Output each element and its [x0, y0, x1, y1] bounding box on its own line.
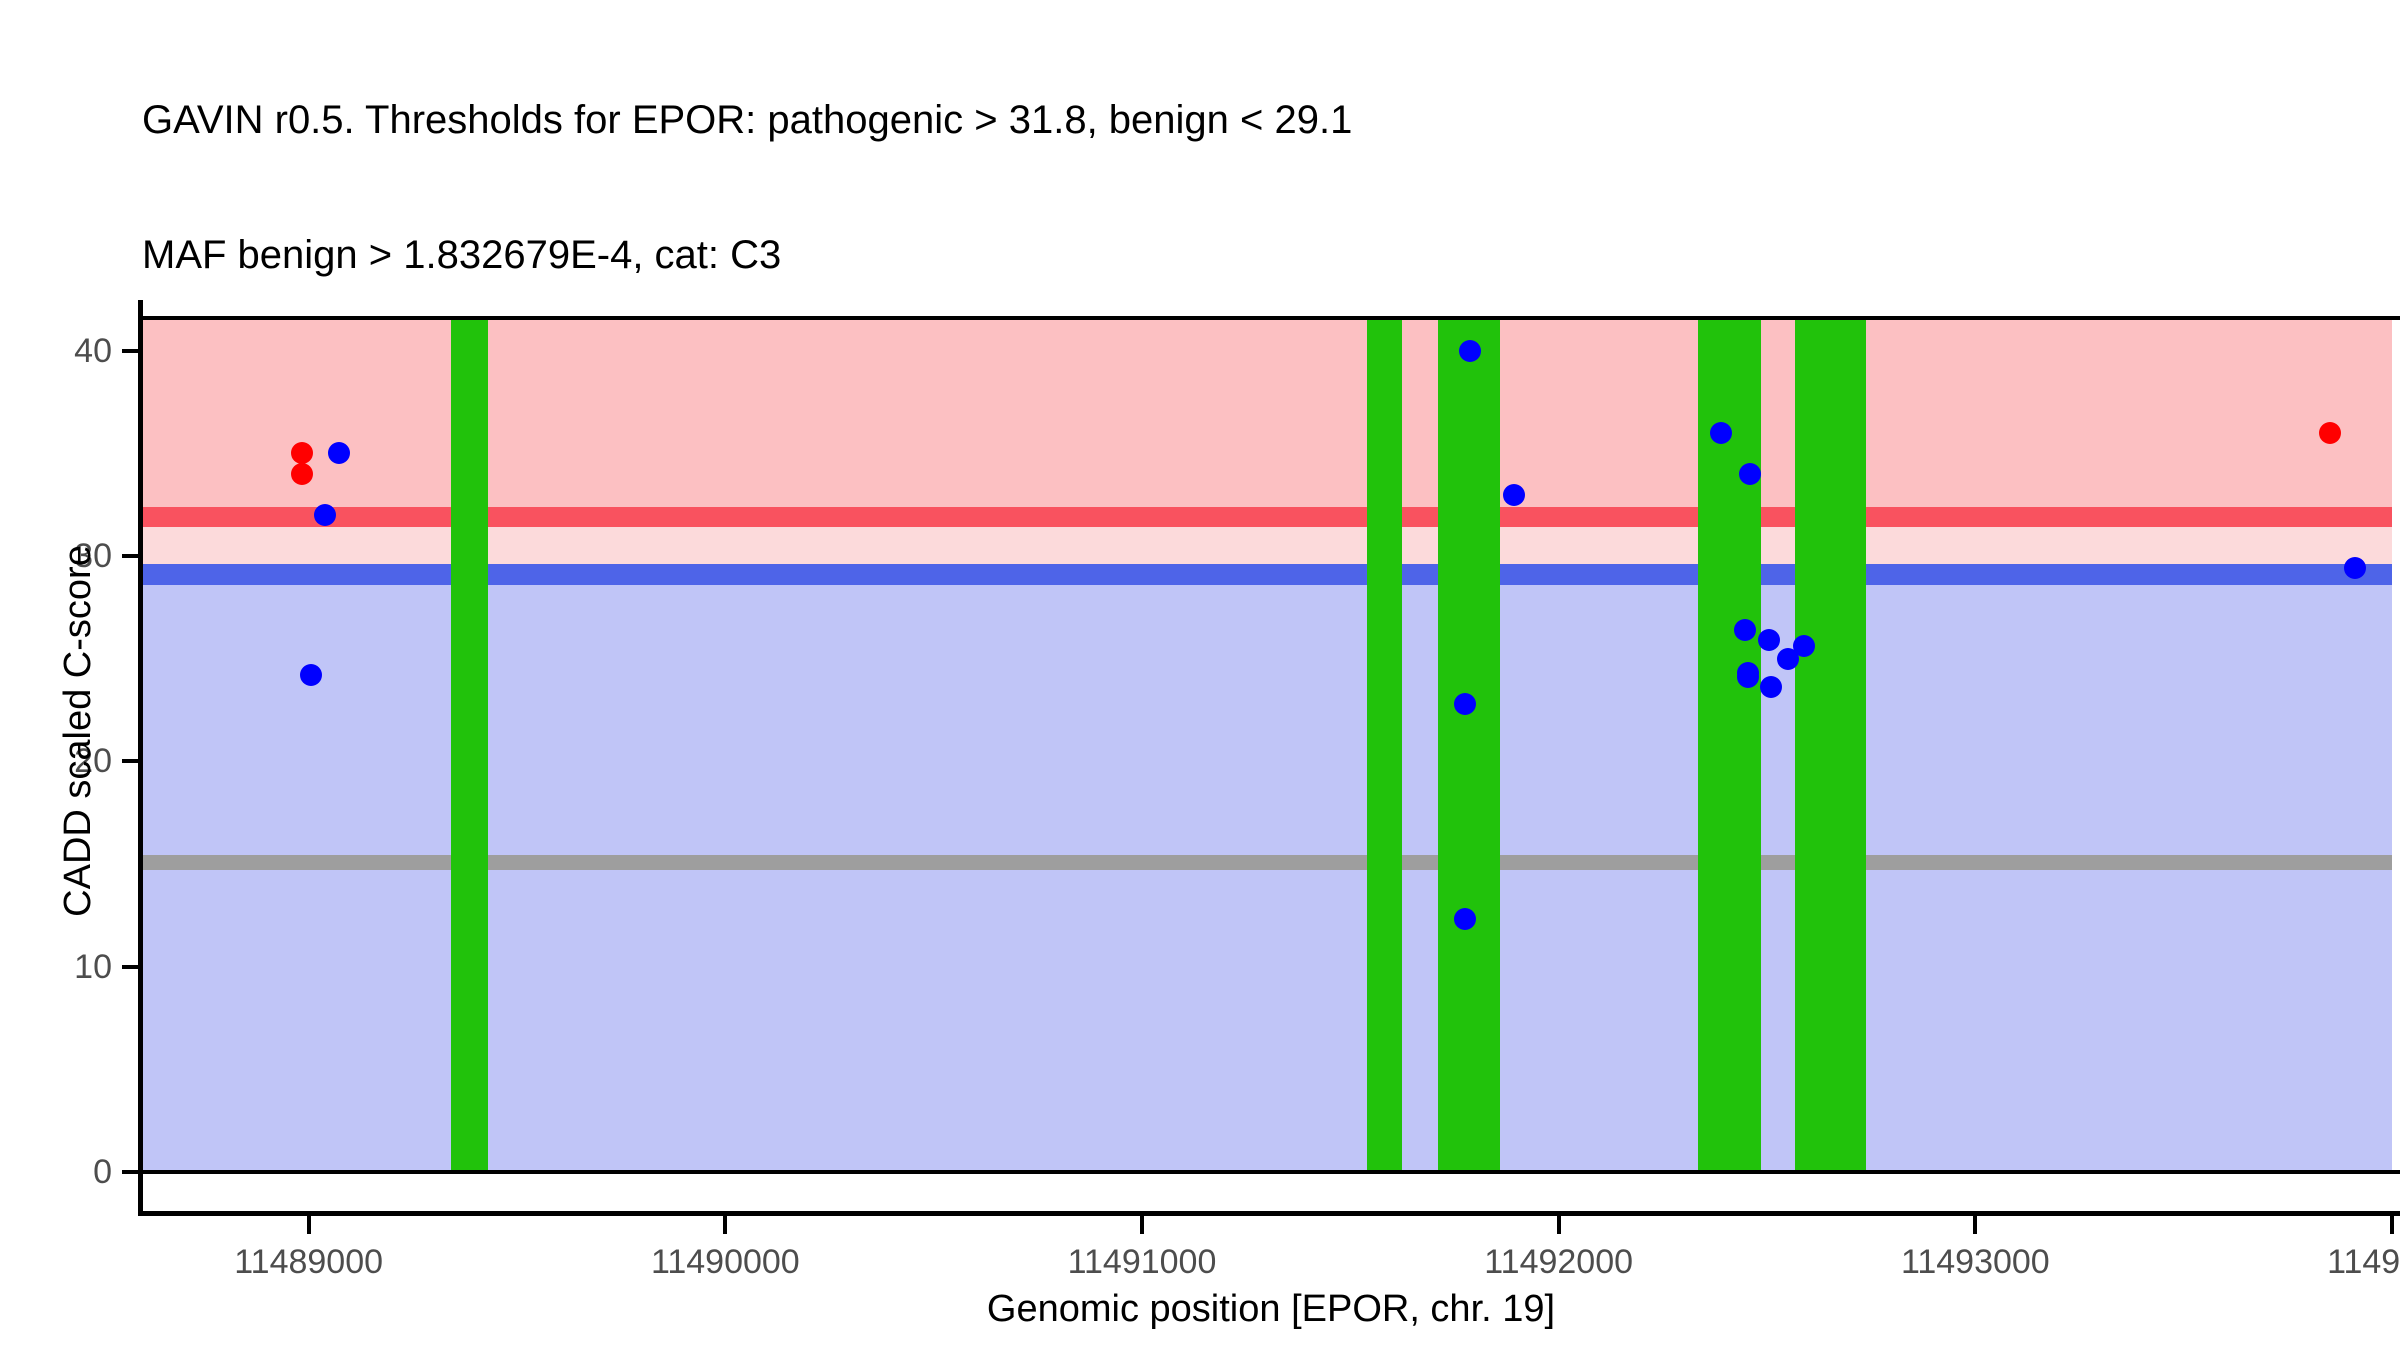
- y-axis-line: [138, 300, 143, 1215]
- plot-bottom-border: [142, 1170, 2400, 1174]
- exon-bar: [1367, 320, 1402, 1172]
- pathogenic-variant-point: [291, 463, 313, 485]
- x-axis-tick-label: 11490000: [575, 1243, 875, 1281]
- x-axis-tick-label: 11492000: [1409, 1243, 1709, 1281]
- x-axis-tick: [1557, 1216, 1561, 1234]
- plot-area: [142, 320, 2392, 1172]
- x-axis-line: [138, 1211, 2400, 1216]
- x-axis-tick: [307, 1216, 311, 1234]
- gnomad-variant-point: [1459, 340, 1481, 362]
- gnomad-variant-point: [1710, 422, 1732, 444]
- gnomad-variant-point: [1739, 463, 1761, 485]
- gavin-cadd-scatter-figure: GAVIN r0.5. Thresholds for EPOR: pathoge…: [0, 0, 2400, 1350]
- y-axis-tick: [122, 349, 140, 353]
- x-axis-tick: [1140, 1216, 1144, 1234]
- plot-top-border: [142, 316, 2400, 320]
- y-axis-tick: [122, 965, 140, 969]
- exon-bar: [1438, 320, 1500, 1172]
- exon-bar: [1795, 320, 1866, 1172]
- x-axis-tick-label: 11489000: [159, 1243, 459, 1281]
- x-axis-tick: [723, 1216, 727, 1234]
- exon-bar: [451, 320, 488, 1172]
- x-axis-tick: [2390, 1216, 2394, 1234]
- gnomad-variant-point: [1777, 648, 1799, 670]
- x-axis-tick-label: 11491000: [992, 1243, 1292, 1281]
- y-axis-tick: [122, 1170, 140, 1174]
- exon-bar: [1698, 320, 1761, 1172]
- gnomad-variant-point: [2344, 557, 2366, 579]
- x-axis-tick-label: 1149400: [2242, 1243, 2400, 1281]
- gnomad-variant-point: [1503, 484, 1525, 506]
- pathogenic-variant-point: [291, 442, 313, 464]
- y-axis-title: CADD scaled C-score: [57, 301, 99, 1161]
- x-axis-title: Genomic position [EPOR, chr. 19]: [142, 1288, 2400, 1330]
- gnomad-variant-point: [1758, 629, 1780, 651]
- y-axis-tick: [122, 554, 140, 558]
- x-axis-tick: [1973, 1216, 1977, 1234]
- x-axis-tick-label: 11493000: [1825, 1243, 2125, 1281]
- title-line-2: MAF benign > 1.832679E-4, cat: C3: [142, 233, 2382, 278]
- gnomad-variant-point: [314, 504, 336, 526]
- y-axis-tick: [122, 759, 140, 763]
- title-line-1: GAVIN r0.5. Thresholds for EPOR: pathoge…: [142, 98, 2382, 143]
